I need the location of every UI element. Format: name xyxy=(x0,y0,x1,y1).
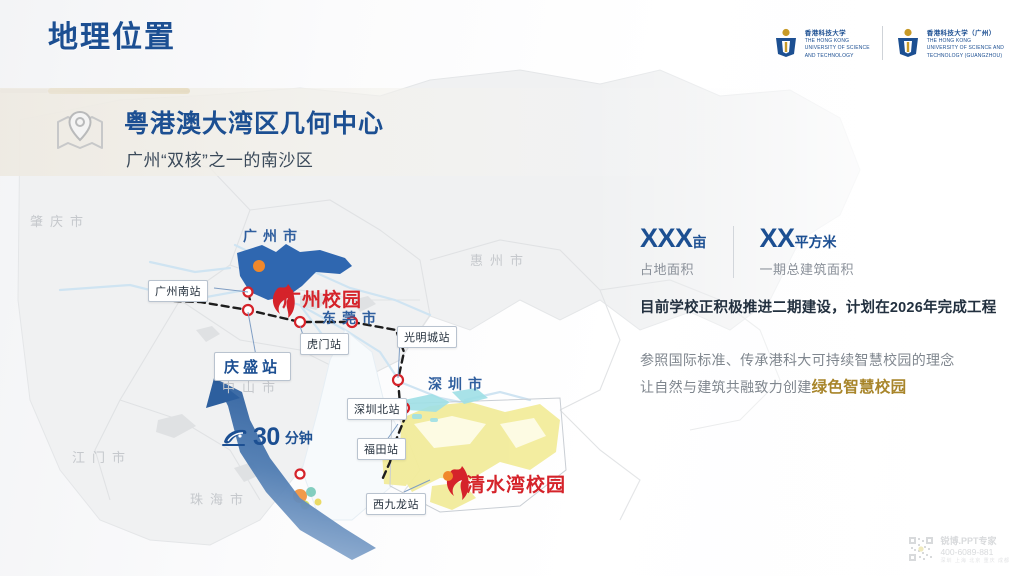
stat-land-area: XXX亩 占地面积 xyxy=(640,224,707,278)
watermark: 锐博.PPT专家 400-6089-881 深圳 上海 北京 重庆 成都 xyxy=(908,534,1010,564)
train-icon xyxy=(222,428,248,448)
vision-line-2-highlight: 绿色智慧校园 xyxy=(812,379,907,396)
stat-land-area-number: XXX xyxy=(640,223,693,253)
hkust-logo-en-1: THE HONG KONG xyxy=(805,38,870,44)
map-city-guangzhou: 广州市 xyxy=(243,226,303,246)
travel-time-unit: 分钟 xyxy=(285,428,313,448)
vision-line-2: 让自然与建筑共融致力创建绿色智慧校园 xyxy=(640,374,955,403)
stat-land-area-unit: 亩 xyxy=(693,234,707,250)
map-pin-icon xyxy=(52,104,108,160)
banner-headline: 粤港澳大湾区几何中心 xyxy=(124,104,384,140)
stat-land-area-value: XXX亩 xyxy=(640,224,707,254)
travel-time-value: 30 xyxy=(253,423,280,452)
watermark-brand: 锐博.PPT专家 xyxy=(940,534,1010,547)
stat-building-area-label: 一期总建筑面积 xyxy=(760,259,855,278)
map-campus-guangzhou: 广州校园 xyxy=(282,285,362,312)
hkust-logo-cn: 香港科技大学 xyxy=(805,27,870,37)
map-city-zhuhai: 珠海市 xyxy=(190,489,250,508)
hkust-gz-logo-cn: 香港科技大学（广州） xyxy=(927,27,1004,37)
map-city-zhaoqing: 肇庆市 xyxy=(30,211,90,230)
map-city-shenzhen: 深圳市 xyxy=(428,374,488,394)
map-station-guangzhou-south[interactable]: 广州南站 xyxy=(148,280,208,302)
hkust-logo-en-3: AND TECHNOLOGY xyxy=(805,53,870,59)
logo-group: 香港科技大学 THE HONG KONG UNIVERSITY OF SCIEN… xyxy=(773,26,1004,60)
hkust-gz-logo-en-1: THE HONG KONG xyxy=(927,38,1004,44)
headline-banner xyxy=(0,88,820,176)
map-station-futian[interactable]: 福田站 xyxy=(357,438,406,460)
hkust-logo: 香港科技大学 THE HONG KONG UNIVERSITY OF SCIEN… xyxy=(773,27,870,59)
phase-two-statement: 目前学校正积极推进二期建设，计划在2026年完成工程 xyxy=(640,296,996,317)
watermark-cities: 深圳 上海 北京 重庆 成都 xyxy=(940,557,1010,564)
stat-building-area: XX平方米 一期总建筑面积 xyxy=(760,224,855,278)
stat-building-area-unit: 平方米 xyxy=(795,234,837,250)
stat-building-area-value: XX平方米 xyxy=(760,224,855,254)
map-city-jiangmen: 江门市 xyxy=(72,447,132,466)
watermark-text: 锐博.PPT专家 400-6089-881 深圳 上海 北京 重庆 成都 xyxy=(940,534,1010,564)
stat-building-area-number: XX xyxy=(760,223,795,253)
hkust-gz-logo-en-2: UNIVERSITY OF SCIENCE AND xyxy=(927,45,1004,51)
map-station-humen[interactable]: 虎门站 xyxy=(300,333,349,355)
vision-line-1: 参照国际标准、传承港科大可持续智慧校园的理念 xyxy=(640,348,955,374)
hkust-gz-logo-text: 香港科技大学（广州） THE HONG KONG UNIVERSITY OF S… xyxy=(927,27,1004,59)
hkust-crest-icon xyxy=(773,28,799,58)
travel-time-badge: 30 分钟 xyxy=(222,423,313,452)
vision-paragraph: 参照国际标准、传承港科大可持续智慧校园的理念 让自然与建筑共融致力创建绿色智慧校… xyxy=(640,348,955,403)
map-station-west-kowloon[interactable]: 西九龙站 xyxy=(366,493,426,515)
map-station-shenzhen-north[interactable]: 深圳北站 xyxy=(347,398,407,420)
hkust-logo-text: 香港科技大学 THE HONG KONG UNIVERSITY OF SCIEN… xyxy=(805,27,870,59)
map-city-huizhou: 惠州市 xyxy=(470,250,530,269)
hkust-logo-en-2: UNIVERSITY OF SCIENCE xyxy=(805,45,870,51)
page-title: 地理位置 xyxy=(48,22,176,54)
logo-divider xyxy=(882,26,883,60)
vision-line-2-prefix: 让自然与建筑共融致力创建 xyxy=(640,379,812,395)
stat-land-area-label: 占地面积 xyxy=(640,259,707,278)
map-station-guangmingcheng[interactable]: 光明城站 xyxy=(397,326,457,348)
page-title-block: 地理位置 xyxy=(48,22,176,54)
hkust-gz-logo-en-3: TECHNOLOGY (GUANGZHOU) xyxy=(927,53,1004,59)
hkust-gz-logo: 香港科技大学（广州） THE HONG KONG UNIVERSITY OF S… xyxy=(895,27,1004,59)
map-station-qingsheng[interactable]: 庆盛站 xyxy=(214,352,291,381)
qr-code-icon xyxy=(908,536,934,562)
slide-root: 地理位置 香港科技大学 THE HONG KONG UNIVERSITY OF … xyxy=(0,0,1024,576)
hkust-gz-crest-icon xyxy=(895,28,921,58)
stats-divider xyxy=(733,226,734,278)
watermark-phone: 400-6089-881 xyxy=(940,547,1010,557)
stats-row: XXX亩 占地面积 XX平方米 一期总建筑面积 xyxy=(640,224,854,278)
map-campus-clearwaterbay: 清水湾校园 xyxy=(466,470,566,497)
banner-subline: 广州“双核”之一的南沙区 xyxy=(126,146,313,171)
